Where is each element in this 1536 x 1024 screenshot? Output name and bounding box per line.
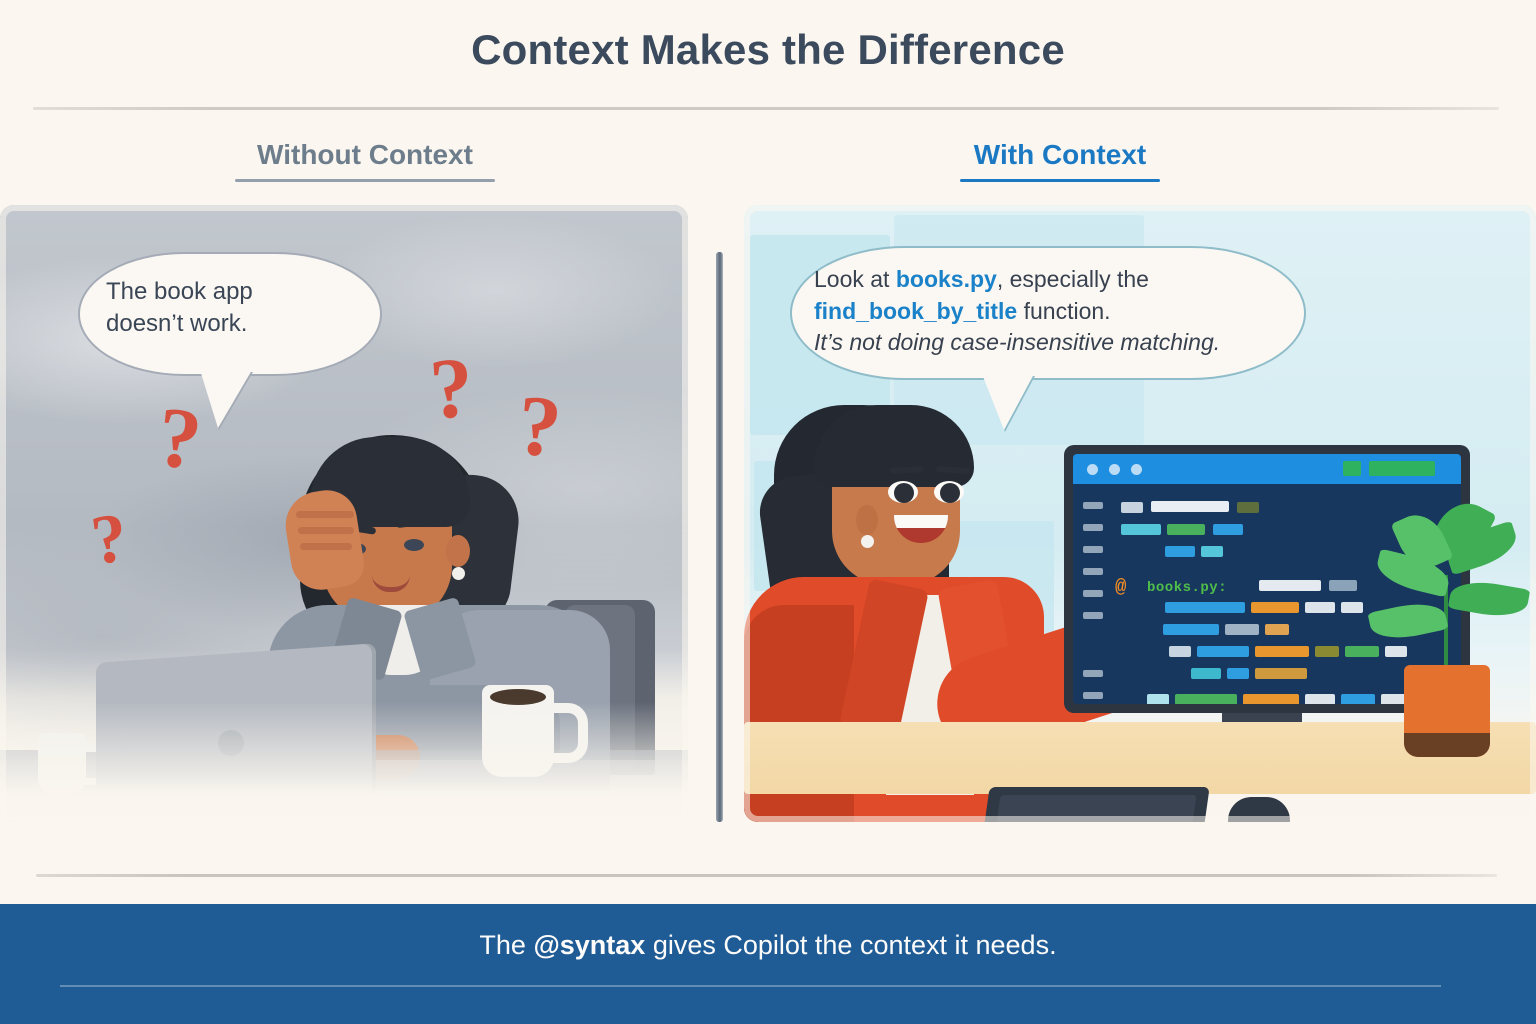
poster-canvas: Context Makes the Difference Without Con…	[0, 0, 1536, 1024]
window-dot-icon	[1109, 464, 1120, 475]
footer-banner-text: The @syntax gives Copilot the context it…	[0, 930, 1536, 961]
line-number-marker	[1083, 502, 1103, 509]
header-divider-rule	[33, 107, 1499, 110]
code-token	[1329, 580, 1357, 591]
footer-suffix: gives Copilot the context it needs.	[645, 930, 1056, 960]
line-number-marker	[1083, 590, 1103, 597]
code-token	[1259, 580, 1321, 591]
code-token	[1167, 524, 1205, 535]
code-token	[1201, 546, 1223, 557]
speech-bubble-with-context-text: Look at books.py, especially the find_bo…	[792, 248, 1304, 375]
question-mark-icon: ?	[154, 393, 206, 483]
code-token	[1225, 624, 1259, 635]
line-number-marker	[1083, 546, 1103, 553]
speech-line-1-prefix: Look at	[814, 266, 896, 292]
speech-line-1: The book app	[106, 276, 354, 308]
code-token	[1227, 668, 1249, 679]
line-number-marker	[1083, 524, 1103, 531]
code-token	[1165, 602, 1245, 613]
code-token	[1305, 602, 1335, 613]
speech-line-3: It’s not doing case-insensitive matching…	[814, 327, 1282, 359]
titlebar-status-chip	[1369, 461, 1435, 476]
code-token	[1341, 694, 1375, 704]
speech-line-2: doesn’t work.	[106, 308, 354, 340]
footer-banner: The @syntax gives Copilot the context it…	[0, 904, 1536, 1024]
question-mark-icon: ?	[514, 381, 564, 470]
panel-bottom-fade	[0, 702, 688, 822]
person-finger	[298, 527, 354, 534]
column-heading-with-context-label: With Context	[830, 140, 1290, 171]
column-heading-with-context: With Context	[830, 140, 1290, 182]
person-finger	[296, 511, 354, 518]
code-token	[1165, 546, 1195, 557]
column-heading-with-context-underline	[960, 179, 1160, 182]
speech-bubble-tail	[200, 370, 252, 428]
window-dot-icon	[1087, 464, 1098, 475]
footer-divider-rule	[36, 874, 1497, 877]
speech-bubble-tail	[982, 374, 1034, 430]
code-token	[1175, 694, 1237, 704]
code-token	[1121, 524, 1161, 535]
footer-emphasis: @syntax	[533, 930, 645, 960]
code-token	[1197, 646, 1249, 657]
speech-line-2: find_book_by_title function.	[814, 296, 1282, 328]
code-token	[1147, 694, 1169, 704]
footer-prefix: The	[479, 930, 533, 960]
speech-line-1: Look at books.py, especially the	[814, 264, 1282, 296]
code-token	[1237, 502, 1259, 513]
titlebar-status-chip	[1343, 461, 1361, 476]
person-eye-right	[404, 539, 424, 551]
window-dot-icon	[1131, 464, 1142, 475]
speech-bubble-without-context-text: The book app doesn’t work.	[80, 254, 380, 363]
speech-bubble-with-context: Look at books.py, especially the find_bo…	[790, 246, 1306, 380]
code-token	[1121, 502, 1143, 513]
plant-pot-base	[1404, 733, 1490, 757]
code-token	[1315, 646, 1339, 657]
person-teeth	[894, 515, 948, 528]
person-ear	[446, 535, 470, 567]
page-title: Context Makes the Difference	[0, 26, 1536, 74]
code-token	[1255, 646, 1309, 657]
person-finger	[300, 543, 352, 550]
column-heading-without-context-label: Without Context	[130, 140, 600, 171]
code-token	[1191, 668, 1221, 679]
line-number-marker	[1083, 568, 1103, 575]
filename-reference: books.py	[896, 266, 997, 292]
speech-bubble-without-context: The book app doesn’t work.	[78, 252, 382, 376]
footer-banner-accent-line	[60, 985, 1441, 987]
keyboard-keys	[995, 795, 1196, 822]
keyboard	[982, 787, 1209, 822]
column-heading-without-context-underline	[235, 179, 495, 182]
editor-file-label: books.py:	[1147, 580, 1227, 596]
person-eye-left	[894, 483, 914, 503]
code-token	[1385, 646, 1407, 657]
code-token	[1169, 646, 1191, 657]
code-token	[1305, 694, 1335, 704]
code-token	[1255, 668, 1307, 679]
function-reference: find_book_by_title	[814, 298, 1017, 324]
line-number-marker	[1083, 692, 1103, 699]
at-syntax-icon: @	[1115, 576, 1126, 598]
line-number-marker	[1083, 670, 1103, 677]
code-token	[1151, 501, 1229, 512]
code-token	[1243, 694, 1299, 704]
speech-line-1-suffix: , especially the	[997, 266, 1149, 292]
editor-titlebar	[1073, 454, 1461, 484]
person-eye-right	[940, 483, 960, 503]
person-ear	[856, 505, 878, 535]
person-earring	[452, 567, 465, 580]
code-token	[1213, 524, 1243, 535]
code-token	[1163, 624, 1219, 635]
question-mark-icon: ?	[427, 344, 476, 433]
code-token	[1251, 602, 1299, 613]
code-token	[1345, 646, 1379, 657]
panel-divider	[716, 252, 723, 822]
line-number-marker	[1083, 612, 1103, 619]
person-earring	[861, 535, 874, 548]
code-token	[1265, 624, 1289, 635]
code-token	[1341, 602, 1363, 613]
speech-line-2-suffix: function.	[1017, 298, 1110, 324]
column-heading-without-context: Without Context	[130, 140, 600, 182]
